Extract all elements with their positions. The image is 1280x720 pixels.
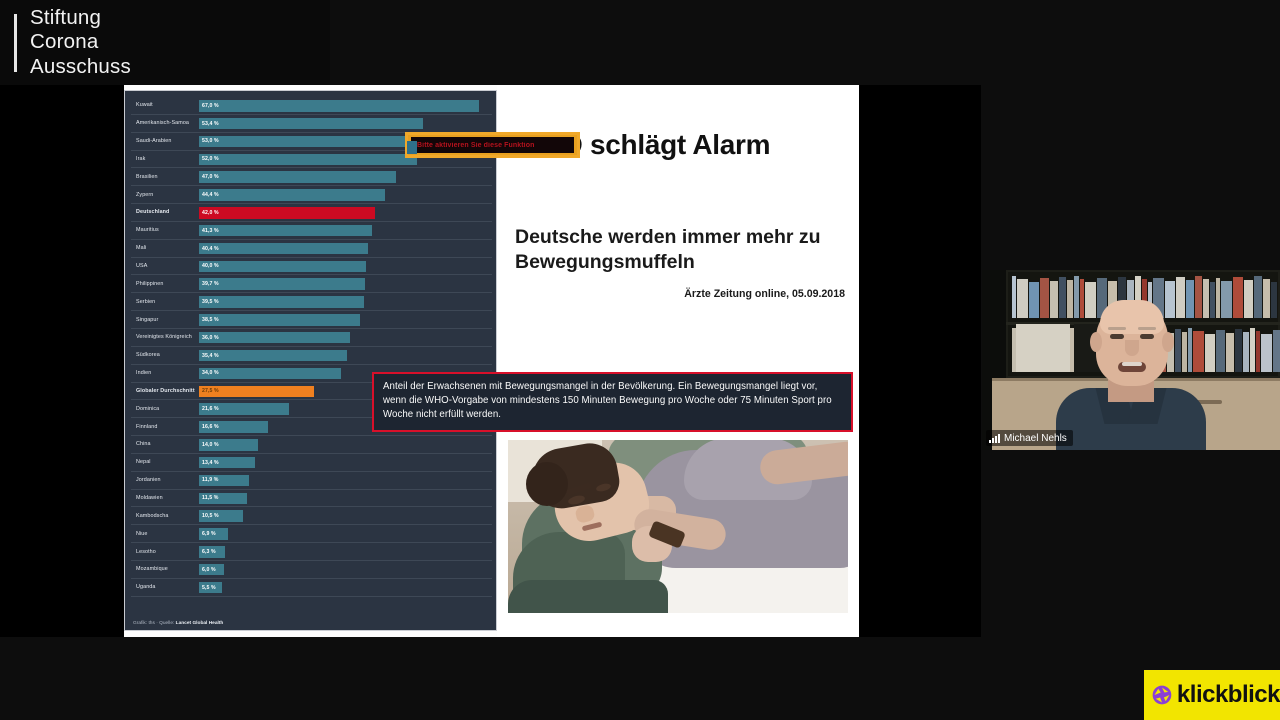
chart-bar-track: 40,0 % xyxy=(199,258,492,275)
signal-bars-icon xyxy=(989,434,1000,443)
chart-row-label: Uganda xyxy=(131,584,199,590)
chart-row-label: Serbien xyxy=(131,299,199,305)
chart-bar: 10,5 % xyxy=(199,510,243,522)
chart-bar-value: 39,7 % xyxy=(199,281,219,287)
chart-row-label: Vereinigtes Königreich xyxy=(131,334,199,340)
book xyxy=(1040,278,1049,318)
book xyxy=(1226,333,1234,372)
chart-row: Mozambique6,0 % xyxy=(131,561,492,579)
chart-bar-value: 47,0 % xyxy=(199,174,219,180)
chart-row-label: Indien xyxy=(131,370,199,376)
book xyxy=(1175,329,1181,372)
chart-row-label: Irak xyxy=(131,156,199,162)
chart-bar-track: 47,0 % xyxy=(199,168,492,185)
chart-bar: 67,0 % xyxy=(199,100,479,112)
chart-bar-track: 6,9 % xyxy=(199,525,492,542)
chart-row-label: Globaler Durchschnitt xyxy=(131,388,199,394)
book xyxy=(1221,281,1232,318)
chart-bar-value: 38,5 % xyxy=(199,317,219,323)
red-annotation-box: Anteil der Erwachsenen mit Bewegungsmang… xyxy=(372,372,853,432)
book xyxy=(1210,282,1215,318)
book xyxy=(1085,282,1096,318)
chart-row-label: Saudi-Arabien xyxy=(131,138,199,144)
book xyxy=(1244,280,1253,318)
chart-bar-value: 34,0 % xyxy=(199,370,219,376)
book xyxy=(1254,276,1262,318)
chart-bar-value: 36,0 % xyxy=(199,335,219,341)
chart-bar-track: 13,4 % xyxy=(199,454,492,471)
chart-row-label: USA xyxy=(131,263,199,269)
chart-bar-track: 36,0 % xyxy=(199,329,492,346)
chart-row: Brasilien47,0 % xyxy=(131,168,492,186)
book xyxy=(1195,276,1202,318)
chart-row-label: Niue xyxy=(131,531,199,537)
chart-bar: 16,6 % xyxy=(199,421,268,433)
chart-bar-track: 5,5 % xyxy=(199,579,492,596)
chart-bar-value: 5,5 % xyxy=(199,585,216,591)
chart-bar-value: 6,3 % xyxy=(199,549,216,555)
chart-bar-track: 67,0 % xyxy=(199,97,492,114)
klickblick-watermark: klickblick xyxy=(1144,670,1280,720)
chart-row-label: Lesotho xyxy=(131,549,199,555)
chart-bar: 34,0 % xyxy=(199,368,341,380)
chart-row: Südkorea35,4 % xyxy=(131,347,492,365)
brand-title: Stiftung Corona Ausschuss xyxy=(30,6,131,79)
chart-bar: 53,0 % xyxy=(199,136,421,148)
chart-bar-track: 6,3 % xyxy=(199,543,492,560)
chart-bar-value: 40,4 % xyxy=(199,246,219,252)
brand-line-3: Ausschuss xyxy=(30,55,131,79)
chart-bar: 47,0 % xyxy=(199,171,396,183)
chart-row: Deutschland42,0 % xyxy=(131,204,492,222)
book xyxy=(1250,328,1255,372)
chart-row: China14,0 % xyxy=(131,436,492,454)
orange-tooltip-overlay[interactable]: Bitte aktivieren Sie diese Funktion xyxy=(405,132,580,158)
chart-bar-value: 53,0 % xyxy=(199,138,219,144)
chart-bar-track: 11,5 % xyxy=(199,490,492,507)
participant-name-badge: Michael Nehls xyxy=(986,430,1073,446)
chart-bar: 6,3 % xyxy=(199,546,225,558)
tooltip-body: Bitte aktivieren Sie diese Funktion xyxy=(411,137,574,153)
chart-bar-track: 53,4 % xyxy=(199,115,492,132)
chart-bar-track: 10,5 % xyxy=(199,507,492,524)
chart-bar: 21,6 % xyxy=(199,403,289,415)
article-subheadline: Deutsche werden immer mehr zu Bewegungsm… xyxy=(515,225,855,276)
book xyxy=(1233,277,1243,318)
chart-row-list: Kuwait67,0 %Amerikanisch-Samoa53,4 %Saud… xyxy=(131,97,492,597)
camera-aperture-icon xyxy=(1152,679,1172,711)
brand-logo: Stiftung Corona Ausschuss xyxy=(0,0,330,85)
chart-bar-track: 44,4 % xyxy=(199,186,492,203)
chart-row-label: Singapur xyxy=(131,317,199,323)
book xyxy=(1256,331,1260,372)
article-photo xyxy=(508,440,848,613)
chart-bar-value: 44,4 % xyxy=(199,192,219,198)
chart-bar-value: 6,9 % xyxy=(199,531,216,537)
book xyxy=(1193,331,1204,372)
chart-bar: 39,7 % xyxy=(199,278,365,290)
bewegungsmangel-bar-chart: Kuwait67,0 %Amerikanisch-Samoa53,4 %Saud… xyxy=(124,90,497,631)
chart-bar: 14,0 % xyxy=(199,439,258,451)
chart-bar-value: 16,6 % xyxy=(199,424,219,430)
chart-bar-track: 39,7 % xyxy=(199,275,492,292)
chart-row-label: China xyxy=(131,441,199,447)
chart-bar: 6,9 % xyxy=(199,528,228,540)
chart-row: Kuwait67,0 % xyxy=(131,97,492,115)
chart-bar-track: 14,0 % xyxy=(199,436,492,453)
chart-row: Niue6,9 % xyxy=(131,525,492,543)
chart-row: Amerikanisch-Samoa53,4 % xyxy=(131,115,492,133)
brand-line-1: Stiftung xyxy=(30,6,131,30)
chart-bar-track: 11,9 % xyxy=(199,472,492,489)
chart-bar-value: 41,3 % xyxy=(199,228,219,234)
chart-bar: 52,0 % xyxy=(199,154,417,166)
book xyxy=(1216,330,1225,372)
chart-bar: 42,0 % xyxy=(199,207,375,219)
book xyxy=(1188,328,1192,372)
chart-row-label: Mali xyxy=(131,245,199,251)
chart-bar-track: 41,3 % xyxy=(199,222,492,239)
chart-bar: 38,5 % xyxy=(199,314,360,326)
chart-row-label: Deutschland xyxy=(131,209,199,215)
screen-share-stage: Kuwait67,0 %Amerikanisch-Samoa53,4 %Saud… xyxy=(0,85,981,637)
chart-row: Vereinigtes Königreich36,0 % xyxy=(131,329,492,347)
chart-row: Philippinen39,7 % xyxy=(131,275,492,293)
chart-bar-track: 40,4 % xyxy=(199,240,492,257)
chart-bar-track: 42,0 % xyxy=(199,204,492,221)
chart-bar-value: 39,5 % xyxy=(199,299,219,305)
chart-bar: 53,4 % xyxy=(199,118,423,130)
book xyxy=(1243,332,1249,372)
chart-row: Moldawien11,5 % xyxy=(131,490,492,508)
chart-bar-value: 52,0 % xyxy=(199,156,219,162)
book xyxy=(1059,277,1066,318)
chart-bar-value: 13,4 % xyxy=(199,460,219,466)
chart-row-label: Nepal xyxy=(131,459,199,465)
book xyxy=(1182,332,1187,372)
chart-bar: 11,5 % xyxy=(199,493,247,505)
chart-bar-track: 38,5 % xyxy=(199,311,492,328)
chart-bar-value: 35,4 % xyxy=(199,353,219,359)
chart-bar-value: 11,9 % xyxy=(199,477,218,483)
red-annotation-text: Anteil der Erwachsenen mit Bewegungsmang… xyxy=(383,380,843,422)
watermark-label: klickblick xyxy=(1177,681,1280,709)
chart-bar-value: 14,0 % xyxy=(199,442,219,448)
brand-line-2: Corona xyxy=(30,30,131,54)
chart-bar: 27,5 % xyxy=(199,386,314,398)
chart-bar: 11,9 % xyxy=(199,475,249,487)
chart-bar: 41,3 % xyxy=(199,225,372,237)
chart-bar: 39,5 % xyxy=(199,296,364,308)
book xyxy=(1080,279,1084,318)
chart-bar: 44,4 % xyxy=(199,189,385,201)
tooltip-text: Bitte aktivieren Sie diese Funktion xyxy=(417,142,534,149)
chart-bar-track: 6,0 % xyxy=(199,561,492,578)
chart-bar-value: 27,5 % xyxy=(199,388,219,394)
book xyxy=(1216,278,1220,318)
book xyxy=(1165,281,1175,318)
chart-row: Zypern44,4 % xyxy=(131,186,492,204)
chart-row-label: Mauritius xyxy=(131,227,199,233)
chart-row-label: Jordanien xyxy=(131,477,199,483)
participant-video-tile[interactable]: Michael Nehls xyxy=(982,270,1280,450)
book xyxy=(1271,282,1277,318)
chart-row-label: Mozambique xyxy=(131,566,199,572)
chart-row: Mauritius41,3 % xyxy=(131,222,492,240)
chart-row-label: Amerikanisch-Samoa xyxy=(131,120,199,126)
chart-bar-value: 67,0 % xyxy=(199,103,219,109)
chart-bar: 40,0 % xyxy=(199,261,366,273)
chart-row: Mali40,4 % xyxy=(131,240,492,258)
book xyxy=(1012,276,1016,318)
chart-bar-value: 21,6 % xyxy=(199,406,219,412)
article-source-line: Ärzte Zeitung online, 05.09.2018 xyxy=(684,288,845,300)
chart-row-label: Finnland xyxy=(131,424,199,430)
book xyxy=(1203,279,1209,318)
book xyxy=(1074,276,1079,318)
chart-row: Kambodscha10,5 % xyxy=(131,507,492,525)
participant-name: Michael Nehls xyxy=(1004,433,1067,444)
chart-row: Serbien39,5 % xyxy=(131,293,492,311)
book xyxy=(1273,330,1280,372)
book xyxy=(1205,334,1215,372)
book xyxy=(1029,282,1039,318)
book xyxy=(1067,280,1073,318)
chart-credit: Grafik: ths · Quelle: xyxy=(133,621,176,626)
tooltip-checkbox[interactable] xyxy=(407,141,417,154)
chart-row-label: Kuwait xyxy=(131,102,199,108)
book xyxy=(1186,280,1194,318)
book xyxy=(1176,277,1185,318)
chart-bar: 36,0 % xyxy=(199,332,350,344)
chart-bar: 13,4 % xyxy=(199,457,255,469)
book xyxy=(1235,329,1242,372)
chart-row-label: Zypern xyxy=(131,192,199,198)
chart-row-label: Kambodscha xyxy=(131,513,199,519)
chart-row: Singapur38,5 % xyxy=(131,311,492,329)
chart-bar: 35,4 % xyxy=(199,350,347,362)
chart-row-label: Moldawien xyxy=(131,495,199,501)
chart-row: Nepal13,4 % xyxy=(131,454,492,472)
chart-row-label: Philippinen xyxy=(131,281,199,287)
chart-bar: 5,5 % xyxy=(199,582,222,594)
chart-row: Lesotho6,3 % xyxy=(131,543,492,561)
chart-row: USA40,0 % xyxy=(131,258,492,276)
chart-bar: 6,0 % xyxy=(199,564,224,576)
chart-row-label: Dominica xyxy=(131,406,199,412)
chart-bar: 40,4 % xyxy=(199,243,368,255)
chart-bar-track: 39,5 % xyxy=(199,293,492,310)
chart-source-footer: Grafik: ths · Quelle: Lancet Global Heal… xyxy=(133,621,223,626)
chart-bar-value: 11,5 % xyxy=(199,495,218,501)
chart-source: Lancet Global Health xyxy=(176,621,224,626)
chart-row: Uganda5,5 % xyxy=(131,579,492,597)
book xyxy=(1017,279,1028,318)
book xyxy=(1263,279,1270,318)
book xyxy=(1050,281,1058,318)
presentation-slide: Kuwait67,0 %Amerikanisch-Samoa53,4 %Saud… xyxy=(124,85,859,637)
chart-row-label: Brasilien xyxy=(131,174,199,180)
chart-bar-value: 42,0 % xyxy=(199,210,219,216)
book xyxy=(1261,334,1272,372)
news-article: WHO schlägt Alarm Deutsche werden immer … xyxy=(497,85,859,637)
chart-bar-value: 10,5 % xyxy=(199,513,219,519)
chart-bar-track: 35,4 % xyxy=(199,347,492,364)
chart-bar-value: 6,0 % xyxy=(199,567,216,573)
chart-row-label: Südkorea xyxy=(131,352,199,358)
chart-row: Jordanien11,9 % xyxy=(131,472,492,490)
chart-bar-value: 53,4 % xyxy=(199,121,219,127)
chart-bar-value: 40,0 % xyxy=(199,263,219,269)
brand-divider-bar xyxy=(14,14,17,72)
